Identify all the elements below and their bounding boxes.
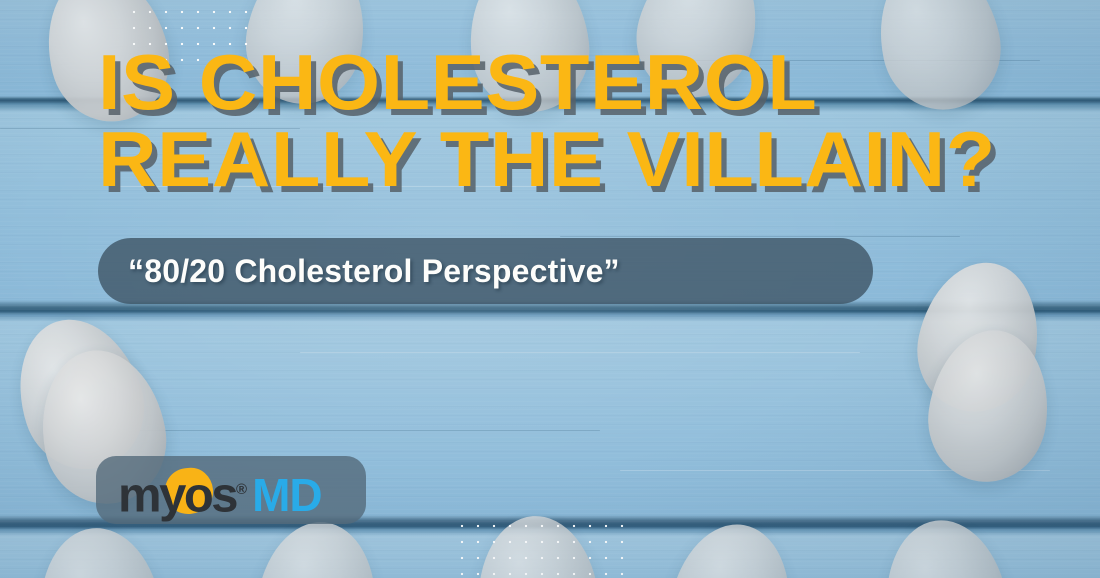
logo-wordmark: myos® [118, 456, 247, 529]
promo-banner: IS CHOLESTEROL REALLY THE VILLAIN? “80/2… [0, 0, 1100, 578]
logo-suffix: MD [252, 461, 322, 529]
headline-line-2: REALLY THE VILLAIN? [98, 121, 996, 198]
registered-trademark-icon: ® [236, 481, 247, 498]
subtitle-text: “80/20 Cholesterol Perspective” [128, 253, 620, 290]
logo-wrap: myos® MD [118, 456, 322, 524]
page-title: IS CHOLESTEROL REALLY THE VILLAIN? [98, 44, 996, 198]
subtitle-pill: “80/20 Cholesterol Perspective” [98, 238, 873, 304]
headline-line-1: IS CHOLESTEROL [98, 44, 996, 121]
brand-logo[interactable]: myos® MD [96, 456, 366, 524]
logo-wordmark-text: myos [118, 468, 236, 522]
